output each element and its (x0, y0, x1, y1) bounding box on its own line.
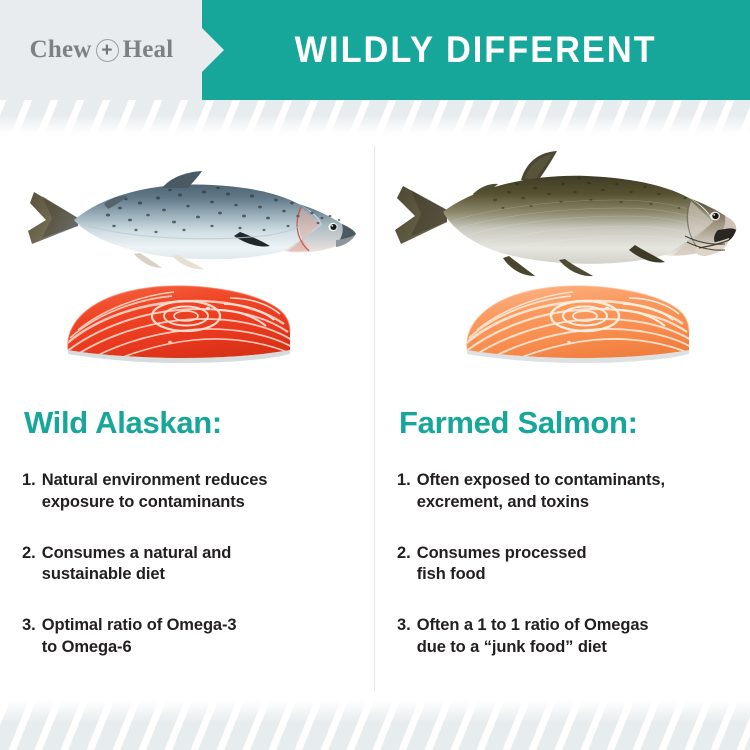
list-line-1: Consumes a natural and (42, 544, 231, 562)
wild-benefits-list: 1. Natural environment reduces exposure … (22, 470, 362, 688)
list-item: 2. Consumes a natural and sustainable di… (22, 543, 362, 587)
list-line-2: to Omega-6 (42, 637, 237, 659)
list-text: Often exposed to contaminants, excrement… (417, 470, 665, 514)
list-number: 2. (22, 543, 36, 587)
farmed-drawbacks-list: 1. Often exposed to contaminants, excrem… (397, 470, 737, 688)
page-title: WILDLY DIFFERENT (295, 29, 657, 71)
logo-text-chew: Chew (30, 36, 92, 64)
farmed-salmon-photo (385, 150, 737, 280)
list-item: 1. Often exposed to contaminants, excrem… (397, 470, 737, 514)
list-number: 1. (397, 470, 411, 514)
logo-text-heal: Heal (123, 36, 174, 64)
column-heading: Farmed Salmon: (399, 405, 638, 441)
column-wild-alaskan: Wild Alaskan: 1. Natural environment red… (0, 140, 375, 700)
title-banner: WILDLY DIFFERENT (202, 0, 750, 100)
list-line-1: Consumes processed (417, 544, 587, 562)
list-text: Optimal ratio of Omega-3 to Omega-6 (42, 615, 237, 659)
plus-circle-icon: + (96, 39, 119, 62)
list-item: 3. Optimal ratio of Omega-3 to Omega-6 (22, 615, 362, 659)
list-item: 3. Often a 1 to 1 ratio of Omegas due to… (397, 615, 737, 659)
column-farmed-salmon: Farmed Salmon: 1. Often exposed to conta… (375, 140, 750, 700)
list-line-2: due to a “junk food” diet (417, 637, 649, 659)
list-line-2: sustainable diet (42, 564, 231, 586)
infographic-page: Chew + Heal WILDLY DIFFERENT (0, 0, 750, 750)
list-number: 3. (397, 615, 411, 659)
column-heading: Wild Alaskan: (24, 405, 222, 441)
list-line-2: excrement, and toxins (417, 492, 665, 514)
list-text: Natural environment reduces exposure to … (42, 470, 268, 514)
list-number: 3. (22, 615, 36, 659)
diagonal-stripes-top (0, 100, 750, 134)
list-line-1: Optimal ratio of Omega-3 (42, 616, 237, 634)
brand-panel: Chew + Heal (0, 0, 225, 100)
list-item: 2. Consumes processed fish food (397, 543, 737, 587)
list-line-1: Often a 1 to 1 ratio of Omegas (417, 616, 649, 634)
list-line-1: Often exposed to contaminants, (417, 471, 665, 489)
wild-alaskan-salmon-photo (12, 168, 357, 273)
list-text: Consumes a natural and sustainable diet (42, 543, 231, 587)
list-line-2: exposure to contaminants (42, 492, 268, 514)
list-number: 2. (397, 543, 411, 587)
list-text: Often a 1 to 1 ratio of Omegas due to a … (417, 615, 649, 659)
chew-heal-logo: Chew + Heal (30, 36, 196, 64)
header-bar: Chew + Heal WILDLY DIFFERENT (0, 0, 750, 100)
list-line-1: Natural environment reduces (42, 471, 268, 489)
diagonal-stripes-bottom (0, 700, 750, 750)
list-line-2: fish food (417, 564, 587, 586)
list-text: Consumes processed fish food (417, 543, 587, 587)
farmed-salmon-fillet-photo (457, 280, 697, 368)
list-number: 1. (22, 470, 36, 514)
wild-salmon-fillet-photo (58, 280, 298, 368)
list-item: 1. Natural environment reduces exposure … (22, 470, 362, 514)
